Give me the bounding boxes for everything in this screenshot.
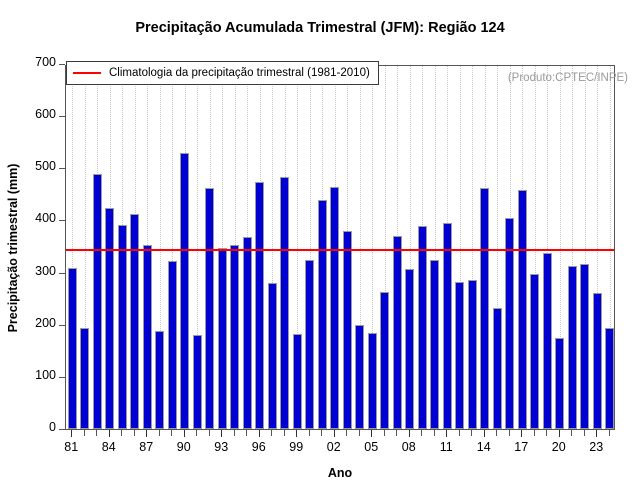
y-tick-label: 500	[35, 159, 56, 173]
bar-2009	[418, 226, 427, 429]
x-tick-2022	[584, 430, 585, 436]
chart-page: Precipitação Acumulada Trimestral (JFM):…	[0, 0, 640, 500]
x-tick-1989	[171, 430, 172, 436]
bar-1999	[293, 334, 302, 429]
x-tick-2017	[521, 430, 522, 437]
legend-label: Climatologia da precipitação trimestral …	[109, 67, 370, 79]
bar-1993	[218, 248, 227, 429]
y-axis-label: Precipitação trimestral (mm)	[6, 83, 20, 413]
bar-1983	[93, 174, 102, 429]
x-tick-label-1999: 99	[281, 440, 311, 454]
x-tick-label-1981: 81	[56, 440, 86, 454]
x-tick-1982	[84, 430, 85, 436]
bar-2014	[480, 188, 489, 429]
x-tick-2016	[509, 430, 510, 436]
x-tick-2018	[534, 430, 535, 436]
x-tick-1981	[71, 430, 72, 437]
x-tick-2012	[459, 430, 460, 436]
x-tick-2013	[471, 430, 472, 436]
bar-2012	[455, 282, 464, 429]
x-tick-2024	[609, 430, 610, 436]
x-tick-label-1993: 93	[206, 440, 236, 454]
bar-2013	[468, 280, 477, 429]
climatology-reference-line	[66, 249, 614, 251]
x-tick-2003	[346, 430, 347, 436]
x-tick-1987	[146, 430, 147, 437]
bar-2015	[493, 308, 502, 429]
x-tick-2001	[321, 430, 322, 436]
x-tick-1992	[209, 430, 210, 436]
x-tick-label-2005: 05	[356, 440, 386, 454]
bar-1994	[230, 245, 239, 429]
x-tick-1998	[284, 430, 285, 436]
x-tick-1983	[96, 430, 97, 436]
x-axis-label: Ano	[65, 466, 615, 480]
x-tick-2002	[334, 430, 335, 437]
bar-1995	[243, 237, 252, 429]
x-tick-1995	[246, 430, 247, 436]
x-tick-2019	[546, 430, 547, 436]
bar-1998	[280, 177, 289, 429]
watermark-producer: (Produto:CPTEC/INPE)	[508, 72, 628, 84]
bar-2006	[380, 292, 389, 429]
legend-line-swatch	[73, 72, 101, 74]
bar-2024	[605, 328, 614, 429]
bar-1988	[155, 331, 164, 429]
x-tick-2007	[396, 430, 397, 436]
bar-2004	[355, 325, 364, 429]
x-tick-label-2014: 14	[469, 440, 499, 454]
bar-2002	[330, 187, 339, 429]
x-tick-2011	[446, 430, 447, 437]
x-tick-2021	[571, 430, 572, 436]
bar-2011	[443, 223, 452, 429]
bar-2023	[593, 293, 602, 429]
bar-1984	[105, 208, 114, 429]
x-tick-2015	[496, 430, 497, 436]
x-tick-label-1996: 96	[244, 440, 274, 454]
y-tick-label: 600	[35, 107, 56, 121]
bar-2017	[518, 190, 527, 429]
x-tick-2014	[484, 430, 485, 437]
x-tick-2009	[421, 430, 422, 436]
y-axis: Precipitação trimestral (mm) 01002003004…	[0, 65, 65, 430]
y-tick-label: 0	[49, 420, 56, 434]
bar-2019	[543, 253, 552, 429]
legend: Climatologia da precipitação trimestral …	[66, 61, 379, 85]
x-tick-1985	[121, 430, 122, 436]
bar-1991	[193, 335, 202, 429]
bar-1987	[143, 245, 152, 429]
bar-1997	[268, 283, 277, 429]
x-tick-1990	[184, 430, 185, 437]
bar-2000	[305, 260, 314, 429]
y-tick-label: 700	[35, 55, 56, 69]
x-tick-2010	[434, 430, 435, 436]
bar-2021	[568, 266, 577, 429]
x-tick-2005	[371, 430, 372, 437]
bar-1986	[130, 214, 139, 429]
x-axis: 818487909396990205081114172023	[65, 430, 615, 490]
x-tick-label-2011: 11	[431, 440, 461, 454]
x-tick-1993	[221, 430, 222, 437]
x-tick-1996	[259, 430, 260, 437]
x-tick-label-2008: 08	[394, 440, 424, 454]
bar-2020	[555, 338, 564, 429]
x-tick-2023	[596, 430, 597, 437]
bar-1981	[68, 268, 77, 429]
bar-1990	[180, 153, 189, 429]
y-tick-label: 300	[35, 264, 56, 278]
x-tick-2006	[384, 430, 385, 436]
y-tick-label: 100	[35, 368, 56, 382]
x-tick-1988	[159, 430, 160, 436]
x-tick-2004	[359, 430, 360, 436]
x-tick-1999	[296, 430, 297, 437]
x-tick-1986	[134, 430, 135, 436]
bar-2022	[580, 264, 589, 429]
x-tick-1984	[109, 430, 110, 437]
y-tick-label: 200	[35, 316, 56, 330]
bar-2010	[430, 260, 439, 429]
bar-1992	[205, 188, 214, 429]
x-tick-2008	[409, 430, 410, 437]
bar-2008	[405, 269, 414, 429]
x-tick-label-1990: 90	[169, 440, 199, 454]
x-tick-1991	[196, 430, 197, 436]
x-tick-1997	[271, 430, 272, 436]
bar-2018	[530, 274, 539, 429]
x-tick-label-2023: 23	[581, 440, 611, 454]
x-tick-label-1987: 87	[131, 440, 161, 454]
plot-area	[65, 65, 615, 430]
bar-2001	[318, 200, 327, 429]
x-tick-label-2002: 02	[319, 440, 349, 454]
x-tick-2020	[559, 430, 560, 437]
bar-2007	[393, 236, 402, 429]
x-tick-label-2020: 20	[544, 440, 574, 454]
bar-1985	[118, 225, 127, 429]
bar-1982	[80, 328, 89, 429]
y-tick-label: 400	[35, 211, 56, 225]
bar-2005	[368, 333, 377, 429]
x-tick-1994	[234, 430, 235, 436]
plot-inner	[66, 66, 614, 429]
bar-1989	[168, 261, 177, 429]
chart-title: Precipitação Acumulada Trimestral (JFM):…	[0, 20, 640, 36]
bar-2003	[343, 231, 352, 429]
x-tick-label-1984: 84	[94, 440, 124, 454]
x-tick-label-2017: 17	[506, 440, 536, 454]
x-tick-2000	[309, 430, 310, 436]
bar-1996	[255, 182, 264, 429]
